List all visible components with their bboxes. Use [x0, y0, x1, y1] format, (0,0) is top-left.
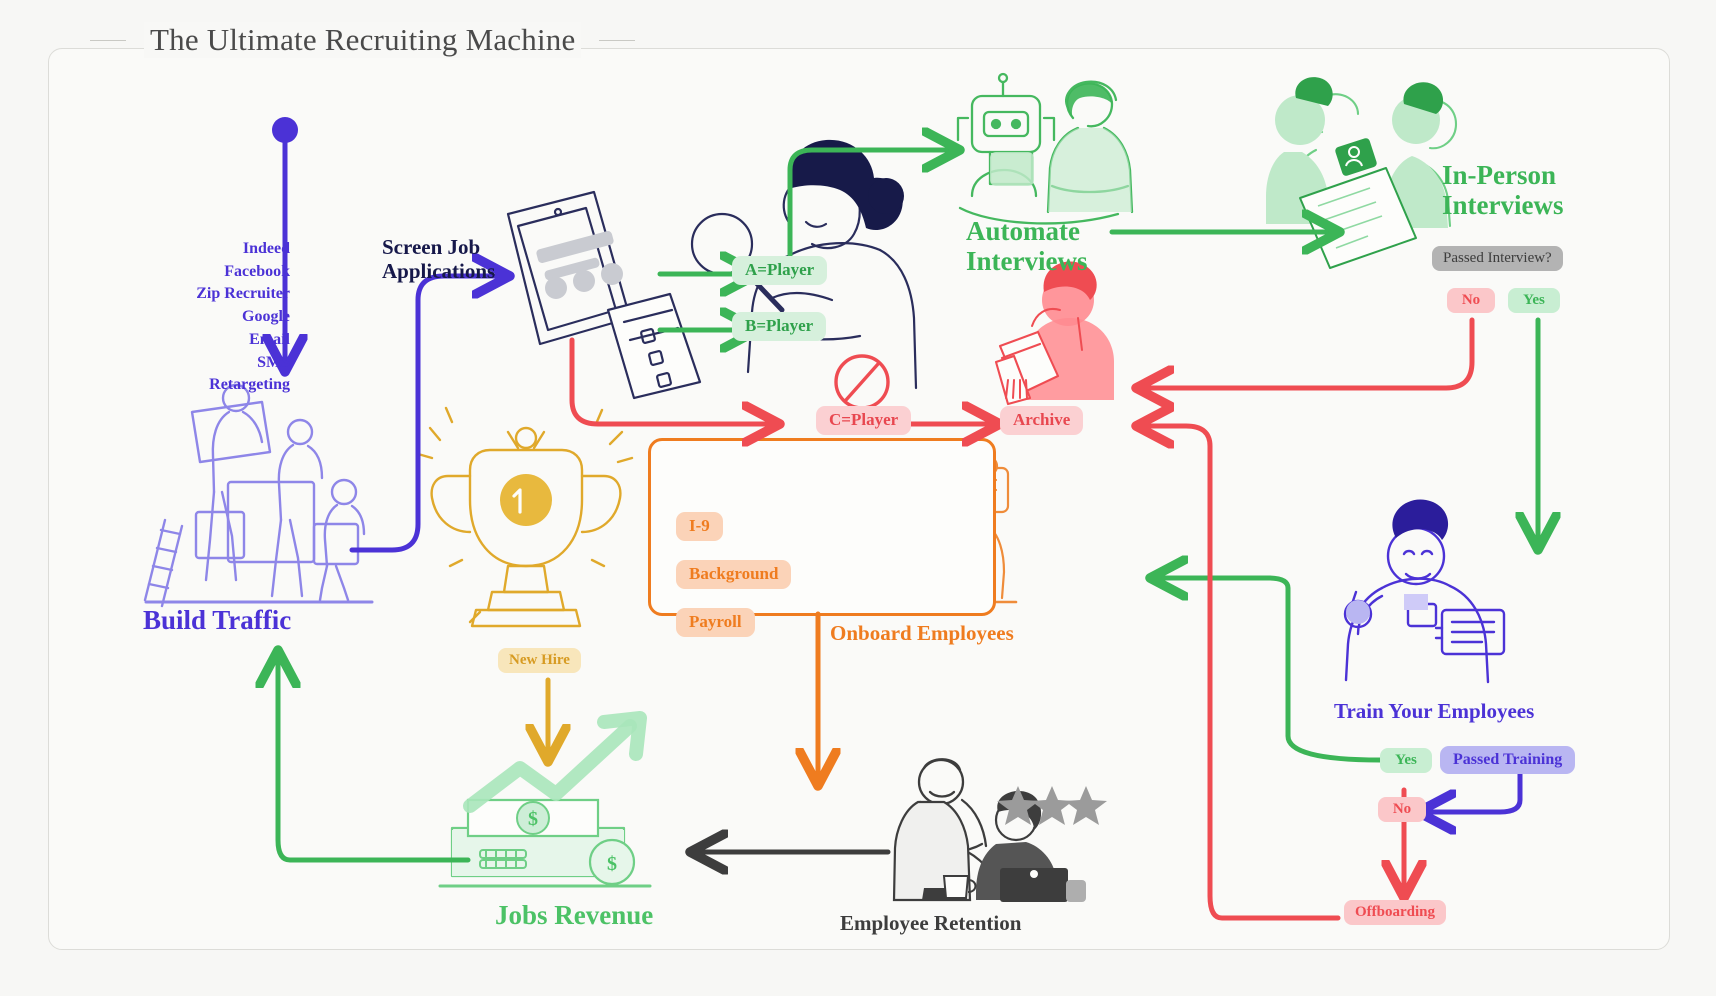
passed-training-label: Passed Training [1440, 746, 1575, 774]
jobs-revenue-label: Jobs Revenue [495, 900, 653, 930]
page-title: The Ultimate Recruiting Machine [144, 22, 581, 58]
onboard-item-background[interactable]: Background [676, 560, 791, 589]
automate-interviews-label: Automate Interviews [966, 216, 1087, 276]
employee-retention-label: Employee Retention [840, 912, 1021, 936]
tier-c-player-label: C=Player [816, 406, 911, 435]
tier-c-player-badge[interactable]: C=Player [816, 406, 911, 435]
interview-yes-label: Yes [1508, 288, 1560, 313]
traffic-sources-list: Indeed Facebook Zip Recruiter Google Ema… [130, 238, 290, 397]
archive-label: Archive [1000, 406, 1083, 435]
passed-interview-label: Passed Interview? [1432, 246, 1563, 271]
onboard-item-i9-label: I-9 [676, 512, 723, 541]
passed-interview-question[interactable]: Passed Interview? [1432, 246, 1563, 271]
tier-a-player-label: A=Player [732, 256, 827, 285]
title-rule-left [90, 40, 126, 41]
new-hire-badge[interactable]: New Hire [498, 648, 581, 673]
onboard-item-payroll-label: Payroll [676, 608, 755, 637]
inperson-interviews-label: In-Person Interviews [1442, 160, 1563, 220]
tier-b-player-label: B=Player [732, 312, 826, 341]
new-hire-label: New Hire [498, 648, 581, 673]
passed-training-badge[interactable]: Passed Training [1440, 746, 1575, 774]
offboarding-badge[interactable]: Offboarding [1344, 900, 1446, 925]
title-rule-right [599, 40, 635, 41]
training-no-badge[interactable]: No [1378, 797, 1426, 822]
diagram-canvas: The Ultimate Recruiting Machine [0, 0, 1716, 996]
onboard-item-payroll[interactable]: Payroll [676, 608, 755, 637]
tier-b-player-badge[interactable]: B=Player [732, 312, 826, 341]
training-yes-label: Yes [1380, 748, 1432, 773]
build-traffic-label: Build Traffic [143, 605, 291, 635]
tier-a-player-badge[interactable]: A=Player [732, 256, 827, 285]
train-employees-label: Train Your Employees [1334, 700, 1534, 724]
offboarding-label: Offboarding [1344, 900, 1446, 925]
archive-badge[interactable]: Archive [1000, 406, 1083, 435]
onboard-employees-title: Onboard Employees [830, 622, 1014, 646]
interview-no-label: No [1447, 288, 1495, 313]
onboard-item-i9[interactable]: I-9 [676, 512, 723, 541]
onboard-item-background-label: Background [676, 560, 791, 589]
title-block: The Ultimate Recruiting Machine [90, 22, 635, 58]
training-no-label: No [1378, 797, 1426, 822]
interview-yes-badge[interactable]: Yes [1508, 288, 1560, 313]
training-yes-badge[interactable]: Yes [1380, 748, 1432, 773]
screen-job-applications-label: Screen Job Applications [382, 236, 495, 283]
interview-no-badge[interactable]: No [1447, 288, 1495, 313]
